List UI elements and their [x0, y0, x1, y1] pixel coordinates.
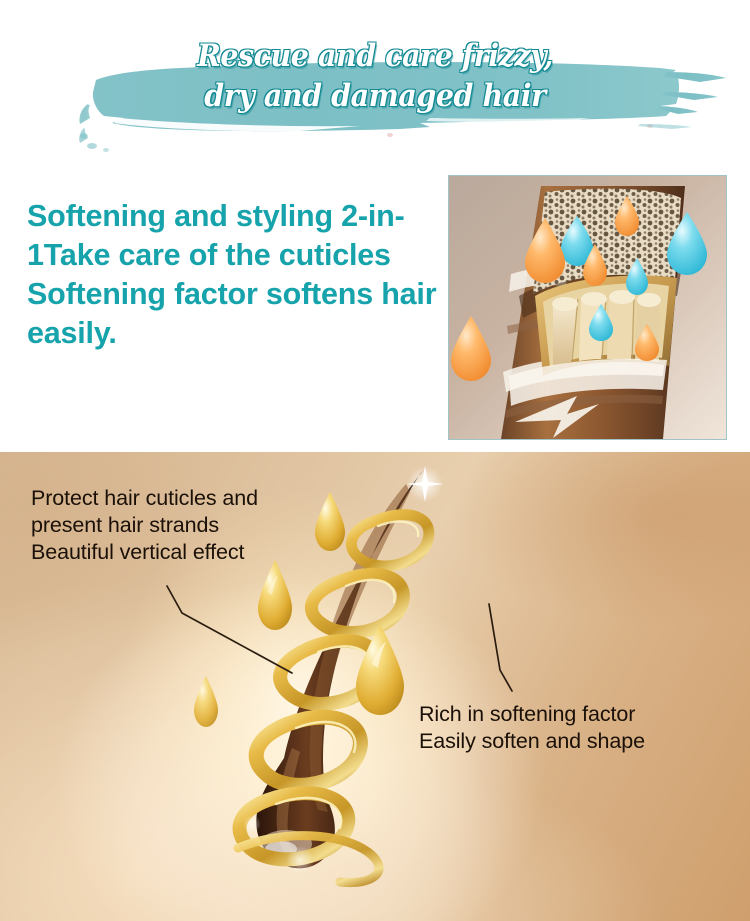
callout-left-text: Protect hair cuticles and present hair s… — [31, 485, 258, 566]
top-section: Rescue and care frizzy,dry and damaged h… — [0, 0, 750, 452]
banner-brush-stroke: Rescue and care frizzy,dry and damaged h… — [0, 0, 750, 160]
cuticle-photo — [448, 175, 727, 440]
banner-headline: Rescue and care frizzy,dry and damaged h… — [30, 36, 720, 116]
bottom-section: Protect hair cuticles and present hair s… — [0, 452, 750, 921]
banner-headline-line1: Rescue and care frizzy, — [197, 38, 553, 74]
callout-right-text: Rich in softening factor Easily soften a… — [419, 701, 645, 755]
leader-line-right — [489, 604, 512, 691]
intro-paragraph: Softening and styling 2-in-1Take care of… — [27, 197, 437, 353]
product-marketing-image: Rescue and care frizzy,dry and damaged h… — [0, 0, 750, 921]
banner-headline-line2: dry and damaged hair — [30, 76, 720, 116]
